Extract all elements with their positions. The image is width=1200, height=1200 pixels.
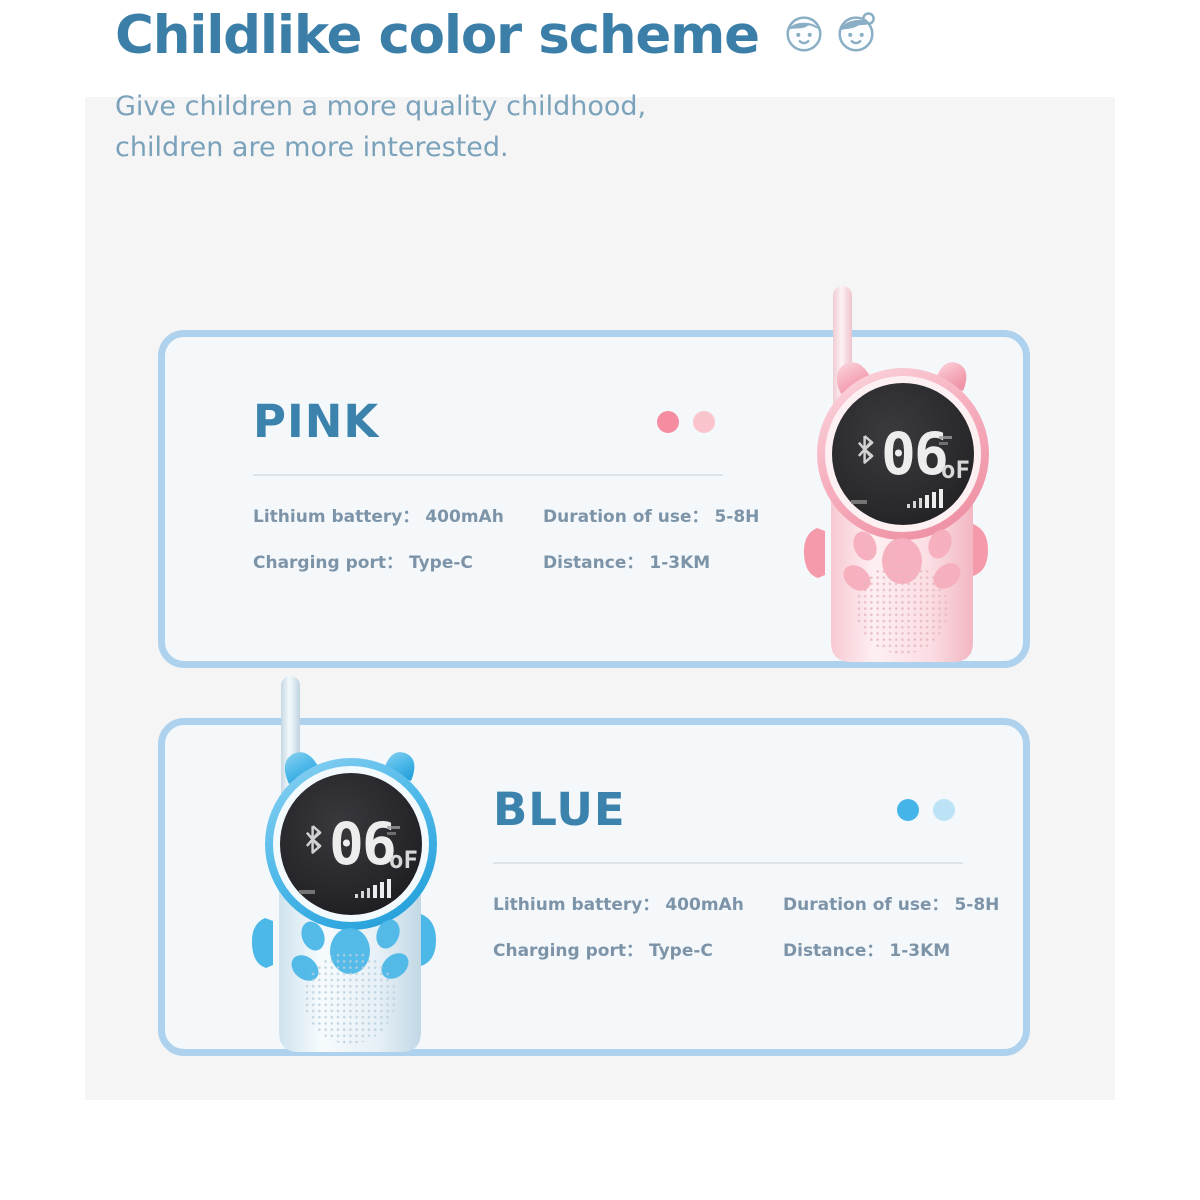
child-faces-icon-group bbox=[781, 10, 879, 62]
spec-distance-pink: Distance：1-3KM bbox=[543, 548, 759, 573]
color-heading-row: BLUE bbox=[493, 725, 963, 832]
child-boy-face-icon bbox=[781, 10, 827, 56]
infographic-page: Childlike color scheme bbox=[0, 0, 1200, 1200]
walkie-talkie-pink: 06 oF bbox=[795, 278, 1010, 698]
swatch-pink-primary[interactable] bbox=[657, 411, 679, 433]
svg-text:oF: oF bbox=[389, 846, 418, 874]
spec-lithium-battery-blue: Lithium battery：400mAh bbox=[493, 890, 783, 915]
swatch-group-pink bbox=[657, 411, 723, 433]
svg-text:06: 06 bbox=[329, 810, 395, 878]
page-subtitle: Give children a more quality childhood, … bbox=[115, 86, 995, 170]
svg-text:06: 06 bbox=[881, 420, 947, 488]
spec-grid-blue: Lithium battery：400mAh Duration of use：5… bbox=[493, 890, 963, 961]
spec-charging-port-blue: Charging port：Type-C bbox=[493, 936, 783, 961]
color-name-blue: BLUE bbox=[493, 787, 626, 832]
divider-blue bbox=[493, 862, 963, 864]
swatch-pink-secondary[interactable] bbox=[693, 411, 715, 433]
spec-duration-pink: Duration of use：5-8H bbox=[543, 502, 759, 527]
color-heading-row: PINK bbox=[253, 337, 723, 444]
svg-text:oF: oF bbox=[941, 456, 970, 484]
spec-duration-blue: Duration of use：5-8H bbox=[783, 890, 999, 915]
spec-distance-blue: Distance：1-3KM bbox=[783, 936, 999, 961]
swatch-blue-secondary[interactable] bbox=[933, 799, 955, 821]
spec-grid-pink: Lithium battery：400mAh Duration of use：5… bbox=[253, 502, 723, 573]
walkie-talkie-blue: 06 oF bbox=[243, 668, 458, 1088]
page-title: Childlike color scheme bbox=[115, 8, 759, 64]
child-girl-face-icon bbox=[833, 10, 879, 56]
title-row: Childlike color scheme bbox=[115, 8, 995, 64]
spec-lithium-battery-pink: Lithium battery：400mAh bbox=[253, 502, 543, 527]
swatch-group-blue bbox=[897, 799, 963, 821]
spec-card-pink-content: PINK Lithium battery：400mAh Duration of … bbox=[253, 337, 723, 661]
spec-card-blue-content: BLUE Lithium battery：400mAh Duration of … bbox=[493, 725, 963, 1049]
divider-pink bbox=[253, 474, 723, 476]
swatch-blue-primary[interactable] bbox=[897, 799, 919, 821]
header: Childlike color scheme bbox=[115, 8, 995, 169]
spec-charging-port-pink: Charging port：Type-C bbox=[253, 548, 543, 573]
color-name-pink: PINK bbox=[253, 399, 379, 444]
